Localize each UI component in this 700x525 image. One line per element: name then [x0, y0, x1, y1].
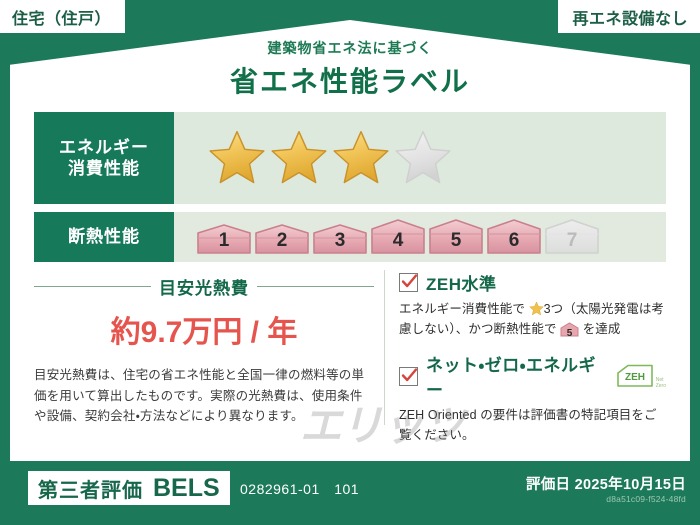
energy-performance-row: エネルギー 消費性能: [34, 112, 666, 204]
title-subtitle: 建築物省エネ法に基づく: [0, 38, 700, 58]
certificate-number: 0282961-01 101: [240, 479, 359, 499]
net-zero-title-line: ネット・ゼロ・エネルギー ZEH NetZero: [399, 351, 666, 401]
evaluation-date: 評価日 2025年10月15日: [526, 473, 686, 494]
utility-cost-heading: 目安光熱費: [34, 274, 374, 299]
energy-performance-label: 住宅（住戸） 再エネ設備なし 建築物省エネ法に基づく 省エネ性能ラベル エネルギ…: [0, 0, 700, 525]
insulation-level-number: 4: [393, 230, 404, 256]
inline-house-level-icon: 5: [560, 322, 579, 337]
inline-house-level-number: 5: [567, 328, 573, 339]
badge-building-type: 住宅（住戸）: [0, 0, 125, 33]
star-filled-icon: [270, 129, 328, 187]
zeh-desc-part1: エネルギー消費性能で: [399, 302, 529, 316]
bels-plate: 第三者評価 BELS: [28, 471, 230, 505]
zeh-logo: ZEH NetZero: [616, 363, 666, 389]
insulation-level-number: 3: [335, 230, 346, 256]
utility-cost-value: 約9.7万円 / 年: [34, 307, 374, 351]
energy-performance-tag: エネルギー 消費性能: [34, 112, 174, 204]
insulation-level-number: 5: [451, 230, 462, 256]
title-block: 建築物省エネ法に基づく 省エネ性能ラベル: [0, 38, 700, 100]
insulation-level-3: 3: [312, 218, 368, 256]
insulation-level-1: 1: [196, 218, 252, 256]
star-rating: [208, 129, 452, 187]
lower-section: 目安光熱費 約9.7万円 / 年 目安光熱費は、住宅の省エネ性能と全国一律の燃料…: [34, 270, 666, 425]
utility-cost-heading-text: 目安光熱費: [159, 274, 249, 299]
insulation-level-number: 1: [219, 230, 230, 256]
insulation-level-number: 6: [509, 230, 520, 256]
net-zero-description: ZEH Oriented の要件は評価書の特記項目をご覧ください。: [399, 405, 666, 445]
heading-rule-left: [34, 286, 151, 287]
heading-rule-right: [257, 286, 374, 287]
check-icon: [401, 367, 418, 384]
utility-cost-panel: 目安光熱費 約9.7万円 / 年 目安光熱費は、住宅の省エネ性能と全国一律の燃料…: [34, 270, 384, 425]
energy-stars-field: [174, 112, 666, 204]
energy-tag-line1: エネルギー: [59, 137, 149, 158]
star-filled-icon: [208, 129, 266, 187]
zeh-standard-title: ZEH水準: [426, 270, 497, 295]
zeh-panel: ZEH水準 エネルギー消費性能で 3つ（太陽光発電は考慮しない）、かつ断熱性能で…: [384, 270, 666, 425]
zeh-standard-description: エネルギー消費性能で 3つ（太陽光発電は考慮しない）、かつ断熱性能で 5 を達成: [399, 299, 666, 339]
third-party-evaluation-label: 第三者評価: [38, 474, 143, 503]
inline-star-icon: [529, 301, 544, 316]
star-empty-icon: [394, 129, 452, 187]
insulation-performance-tag: 断熱性能: [34, 212, 174, 262]
star-filled-icon: [332, 129, 390, 187]
zeh-logo-subtext: NetZero: [656, 378, 666, 389]
energy-tag-line2: 消費性能: [68, 158, 140, 179]
insulation-level-number: 7: [567, 230, 578, 256]
insulation-level-6: 6: [486, 218, 542, 256]
insulation-level-number: 2: [277, 230, 288, 256]
svg-text:ZEH: ZEH: [625, 372, 645, 383]
insulation-level-4: 4: [370, 218, 426, 256]
net-zero-checkbox[interactable]: [399, 367, 418, 386]
bels-logo-text: BELS: [153, 474, 220, 503]
utility-cost-note: 目安光熱費は、住宅の省エネ性能と全国一律の燃料等の単価を用いて算出したものです。…: [34, 365, 374, 427]
badge-renewable-equipment: 再エネ設備なし: [558, 0, 700, 33]
page-title: 省エネ性能ラベル: [0, 60, 700, 100]
insulation-level-7: 7: [544, 218, 600, 256]
document-id: d8a51c09-f524-48fd: [606, 494, 686, 504]
net-zero-block: ネット・ゼロ・エネルギー ZEH NetZero ZEH Oriented の要…: [399, 351, 666, 445]
footer-bar: 第三者評価 BELS 0282961-01 101 評価日 2025年10月15…: [0, 461, 700, 525]
insulation-performance-row: 断熱性能 1234567: [34, 212, 666, 262]
zeh-house-icon: ZEH: [616, 363, 654, 389]
zeh-standard-block: ZEH水準 エネルギー消費性能で 3つ（太陽光発電は考慮しない）、かつ断熱性能で…: [399, 270, 666, 339]
insulation-level-2: 2: [254, 218, 310, 256]
insulation-level-scale: 1234567: [196, 218, 600, 256]
insulation-levels-field: 1234567: [174, 212, 666, 262]
zeh-desc-part2: を達成: [579, 322, 620, 336]
zeh-standard-checkbox[interactable]: [399, 273, 418, 292]
insulation-level-5: 5: [428, 218, 484, 256]
check-icon: [401, 273, 418, 290]
net-zero-title: ネット・ゼロ・エネルギー: [426, 351, 608, 401]
label-body: エネルギー 消費性能 断熱性能 1234567 目安光熱費: [10, 96, 690, 461]
zeh-standard-title-line: ZEH水準: [399, 270, 666, 295]
